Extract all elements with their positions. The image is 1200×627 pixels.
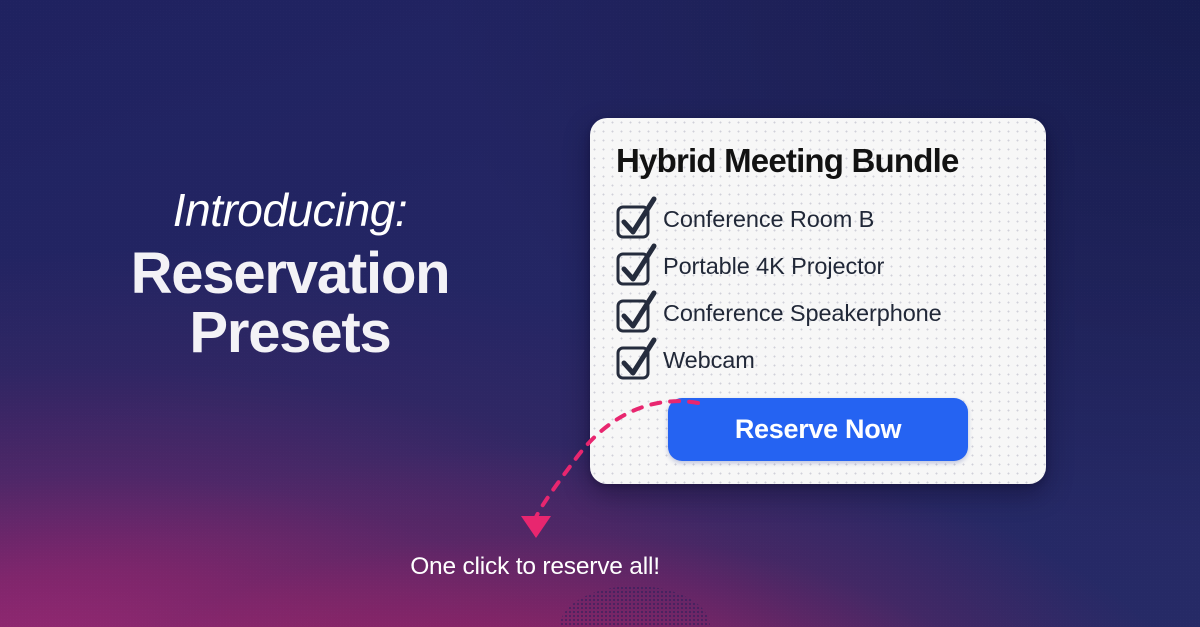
list-item[interactable]: Conference Room B [616,196,1020,243]
list-item[interactable]: Portable 4K Projector [616,243,1020,290]
kicker-text: Introducing: [60,186,520,236]
card-title: Hybrid Meeting Bundle [616,142,1020,180]
bundle-card: Hybrid Meeting Bundle Conference Room B [590,118,1046,484]
list-item[interactable]: Conference Speakerphone [616,290,1020,337]
headline-line-2: Presets [60,303,520,362]
card-content: Hybrid Meeting Bundle Conference Room B [590,118,1046,384]
checkbox-checked-icon[interactable] [616,250,650,284]
headline-line-1: Reservation [131,241,450,306]
checkbox-checked-icon[interactable] [616,203,650,237]
page-title: Reservation Presets [60,244,520,362]
checkbox-checked-icon[interactable] [616,297,650,331]
list-item[interactable]: Webcam [616,337,1020,384]
annotation-caption: One click to reserve all! [0,553,1070,581]
headline-block: Introducing: Reservation Presets [60,186,520,362]
list-item-label: Portable 4K Projector [663,253,884,280]
checkbox-checked-icon[interactable] [616,344,650,378]
list-item-label: Webcam [663,347,755,374]
reserve-now-button[interactable]: Reserve Now [668,398,968,461]
list-item-label: Conference Speakerphone [663,300,942,327]
list-item-label: Conference Room B [663,206,874,233]
promo-banner: Introducing: Reservation Presets Hybrid … [0,0,1200,627]
bundle-checklist: Conference Room B Portable 4K Projector [616,196,1020,384]
